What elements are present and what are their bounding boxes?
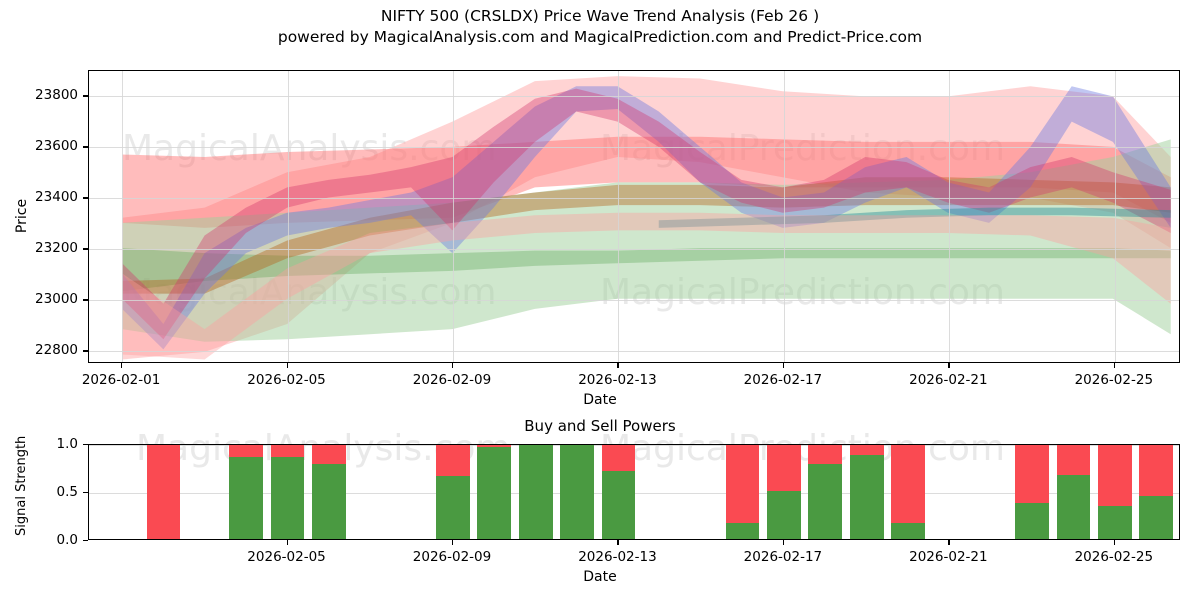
buy-power-segment	[767, 491, 801, 539]
signal-x-tickmark	[783, 540, 784, 545]
signal-y-tick-label: 1.0	[0, 436, 78, 452]
signal-bar[interactable]	[560, 444, 594, 539]
buy-power-segment	[726, 523, 760, 539]
price-x-tickmark	[783, 363, 784, 368]
price-x-tick-label: 2026-02-09	[413, 372, 491, 388]
signal-x-tick-label: 2026-02-17	[744, 549, 822, 565]
gridline	[288, 71, 289, 362]
sell-power-segment	[850, 444, 884, 455]
sell-power-segment	[1098, 444, 1132, 506]
signal-bar[interactable]	[436, 444, 470, 539]
price-x-tick-label: 2026-02-25	[1075, 372, 1153, 388]
sell-power-segment	[602, 444, 636, 471]
signal-bar[interactable]	[1057, 444, 1091, 539]
price-y-tick-label: 23600	[0, 138, 78, 154]
buy-power-segment	[808, 464, 842, 539]
signal-y-tickmark	[83, 540, 88, 541]
price-x-tick-label: 2026-02-01	[82, 372, 160, 388]
signal-x-tickmark	[287, 540, 288, 545]
price-y-tick-label: 23200	[0, 240, 78, 256]
price-y-tick-label: 23800	[0, 87, 78, 103]
signal-bar[interactable]	[1139, 444, 1173, 539]
gridline	[89, 300, 1179, 301]
sell-power-segment	[1057, 444, 1091, 475]
sell-power-segment	[891, 444, 925, 523]
signal-bar[interactable]	[891, 444, 925, 539]
buy-power-segment	[560, 444, 594, 539]
sell-power-segment	[436, 444, 470, 476]
price-y-tickmark	[83, 95, 88, 96]
signal-bar[interactable]	[271, 444, 305, 539]
gridline	[1115, 71, 1116, 362]
buy-power-segment	[477, 447, 511, 539]
gridline	[89, 351, 1179, 352]
signal-x-tickmark	[1114, 540, 1115, 545]
signal-x-tick-label: 2026-02-25	[1075, 549, 1153, 565]
signal-bar[interactable]	[477, 444, 511, 539]
signal-bar[interactable]	[850, 444, 884, 539]
signal-bar[interactable]	[229, 444, 263, 539]
signal-x-tick-label: 2026-02-13	[578, 549, 656, 565]
signal-bar[interactable]	[312, 444, 346, 539]
price-y-tick-label: 22800	[0, 342, 78, 358]
buy-power-segment	[1015, 503, 1049, 540]
gridline	[453, 71, 454, 362]
signal-x-axis-label: Date	[0, 569, 1200, 585]
signal-x-tick-label: 2026-02-21	[909, 549, 987, 565]
buy-power-segment	[271, 457, 305, 539]
signal-bar[interactable]	[602, 444, 636, 539]
sell-power-segment	[271, 444, 305, 457]
gridline	[89, 249, 1179, 250]
price-x-axis-label: Date	[0, 392, 1200, 408]
chart-title-block: NIFTY 500 (CRSLDX) Price Wave Trend Anal…	[0, 6, 1200, 48]
sell-power-segment	[726, 444, 760, 523]
signal-bar[interactable]	[1098, 444, 1132, 539]
price-x-tickmark	[948, 363, 949, 368]
gridline	[122, 71, 123, 362]
signal-x-tick-label: 2026-02-09	[413, 549, 491, 565]
price-x-tickmark	[287, 363, 288, 368]
price-y-tickmark	[83, 197, 88, 198]
buy-power-segment	[1098, 506, 1132, 539]
price-chart-plot-area	[88, 70, 1180, 363]
price-y-tickmark	[83, 299, 88, 300]
signal-bar[interactable]	[519, 444, 553, 539]
sell-power-segment	[1015, 444, 1049, 503]
page-subtitle: powered by MagicalAnalysis.com and Magic…	[0, 27, 1200, 48]
buy-power-segment	[850, 455, 884, 540]
price-x-tick-label: 2026-02-17	[744, 372, 822, 388]
signal-bar[interactable]	[147, 444, 181, 539]
signal-bar[interactable]	[808, 444, 842, 539]
price-y-tick-label: 23400	[0, 189, 78, 205]
gridline	[784, 71, 785, 362]
signal-x-tickmark	[452, 540, 453, 545]
signal-y-tick-label: 0.0	[0, 532, 78, 548]
sell-power-segment	[229, 444, 263, 457]
price-x-tickmark	[121, 363, 122, 368]
price-x-tick-label: 2026-02-21	[909, 372, 987, 388]
buy-power-segment	[229, 457, 263, 539]
signal-y-tickmark	[83, 444, 88, 445]
buy-power-segment	[436, 476, 470, 539]
chart-page: NIFTY 500 (CRSLDX) Price Wave Trend Anal…	[0, 0, 1200, 600]
signal-panel-title: Buy and Sell Powers	[0, 416, 1200, 436]
buy-power-segment	[891, 523, 925, 539]
price-x-tick-label: 2026-02-05	[247, 372, 325, 388]
sell-power-segment	[1139, 444, 1173, 496]
signal-y-tick-label: 0.5	[0, 484, 78, 500]
price-x-tickmark	[452, 363, 453, 368]
buy-power-segment	[602, 471, 636, 539]
gridline	[89, 198, 1179, 199]
signal-bar[interactable]	[767, 444, 801, 539]
sell-power-segment	[808, 444, 842, 464]
signal-y-tickmark	[83, 492, 88, 493]
price-x-tickmark	[1114, 363, 1115, 368]
gridline	[949, 71, 950, 362]
signal-bar[interactable]	[1015, 444, 1049, 539]
sell-power-segment	[147, 444, 181, 539]
signal-x-tick-label: 2026-02-05	[247, 549, 325, 565]
price-x-tick-label: 2026-02-13	[578, 372, 656, 388]
price-y-tickmark	[83, 248, 88, 249]
price-y-tickmark	[83, 350, 88, 351]
price-y-tickmark	[83, 146, 88, 147]
buy-power-segment	[519, 444, 553, 539]
signal-x-tickmark	[617, 540, 618, 545]
signal-chart-plot-area	[88, 444, 1180, 540]
gridline	[89, 96, 1179, 97]
price-wave-bands	[89, 71, 1179, 362]
page-title: NIFTY 500 (CRSLDX) Price Wave Trend Anal…	[0, 6, 1200, 27]
gridline	[618, 71, 619, 362]
price-x-tickmark	[617, 363, 618, 368]
buy-power-segment	[1139, 496, 1173, 539]
sell-power-segment	[312, 444, 346, 464]
signal-bar[interactable]	[726, 444, 760, 539]
gridline	[89, 147, 1179, 148]
buy-power-segment	[1057, 475, 1091, 539]
signal-x-tickmark	[948, 540, 949, 545]
sell-power-segment	[767, 444, 801, 491]
buy-power-segment	[312, 464, 346, 539]
price-y-tick-label: 23000	[0, 291, 78, 307]
